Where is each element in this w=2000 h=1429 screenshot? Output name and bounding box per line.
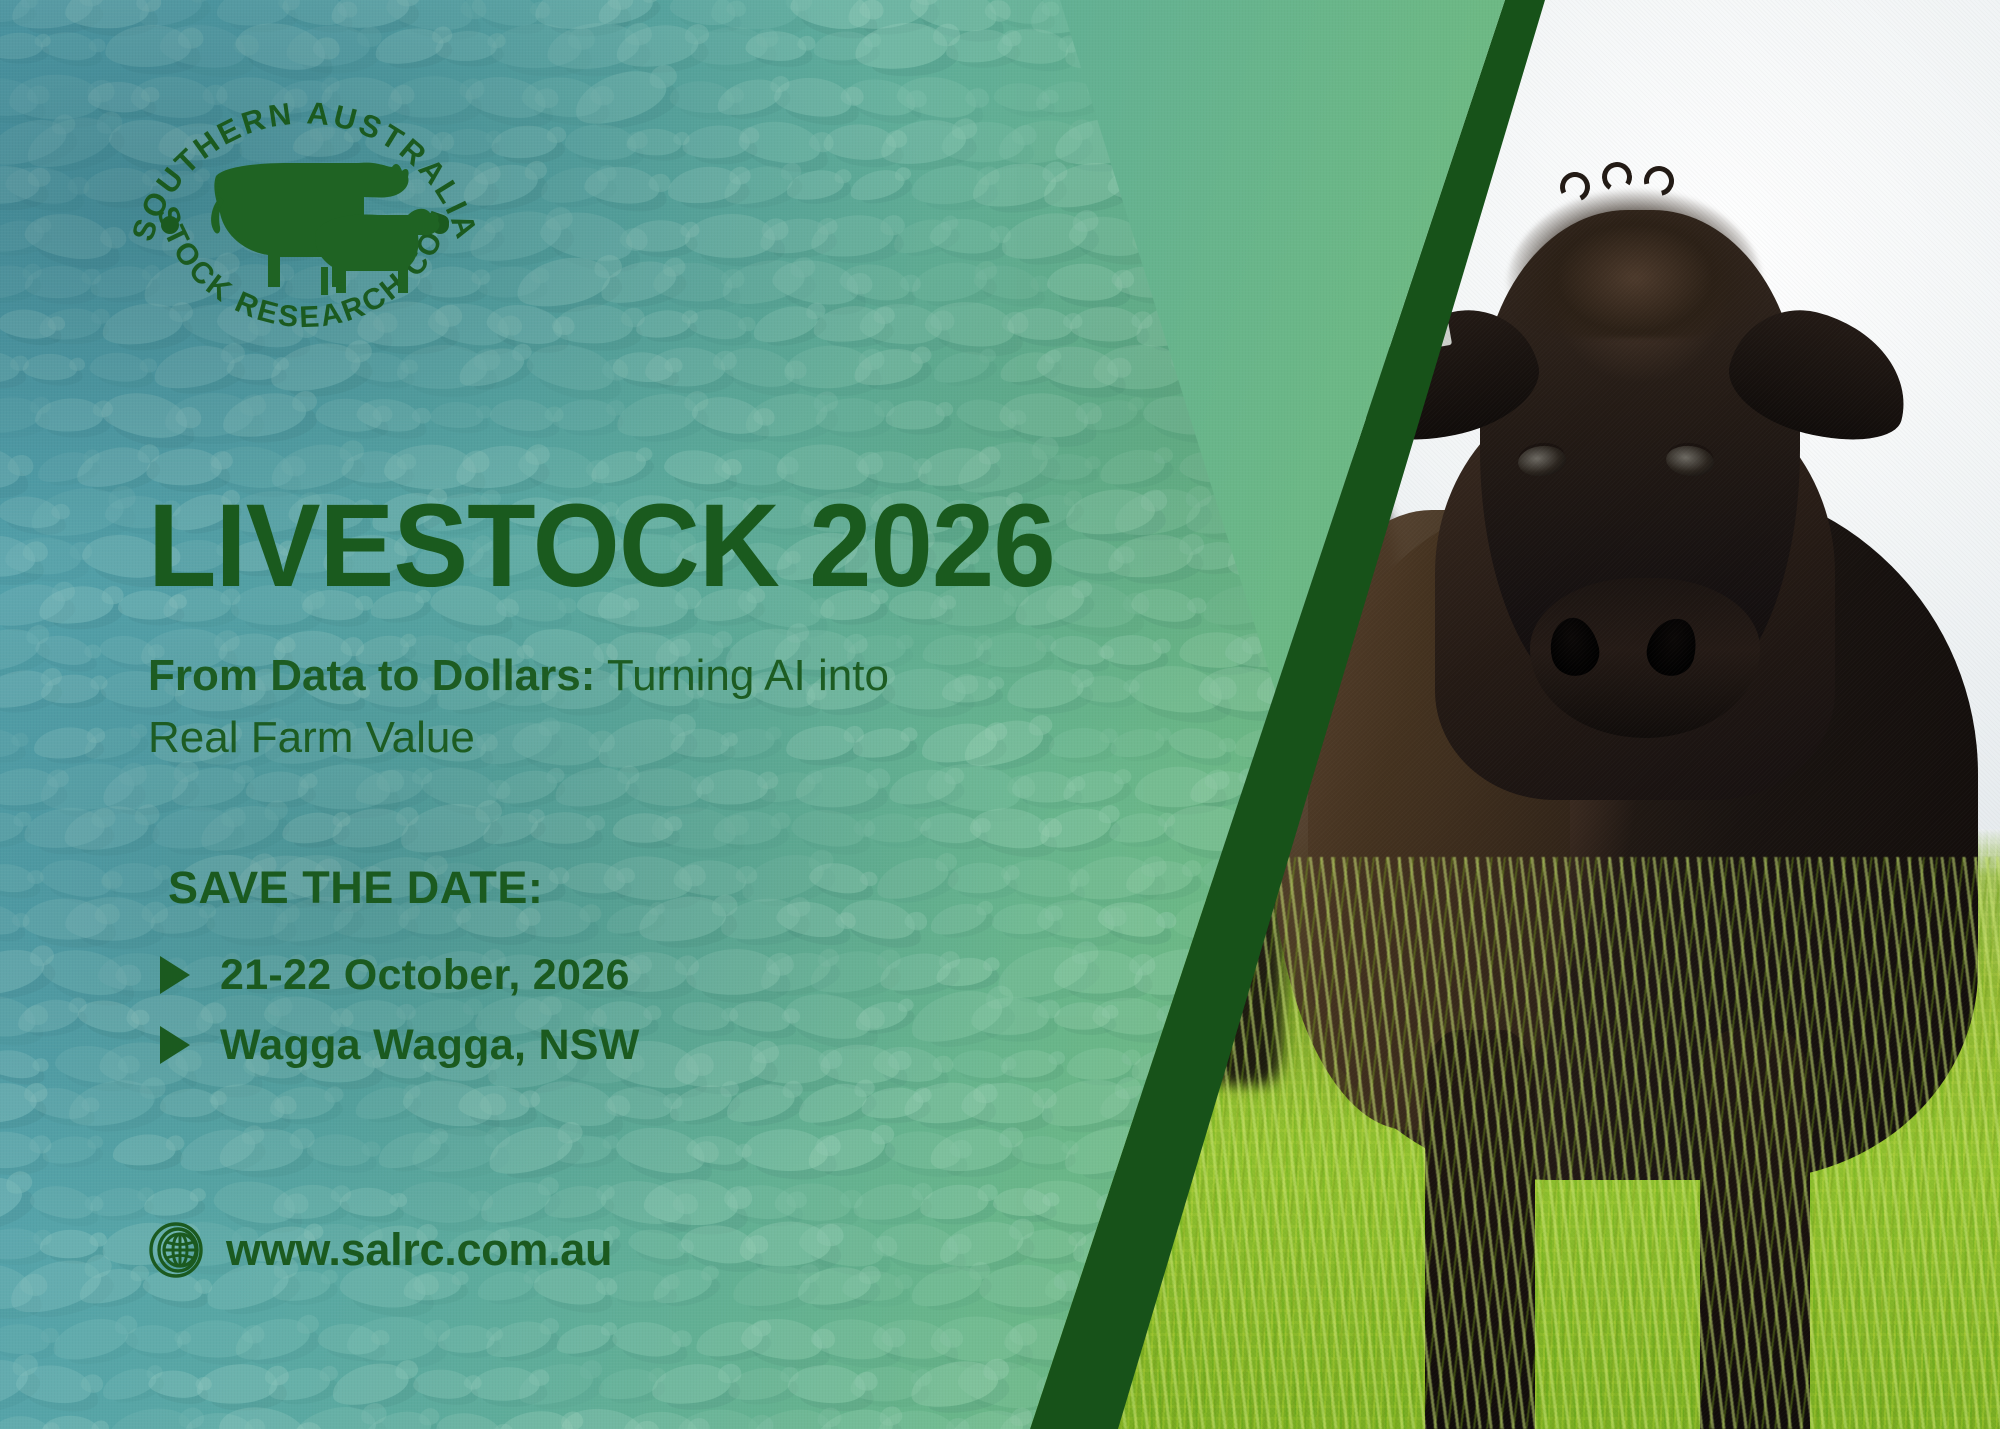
globe-icon [148, 1222, 204, 1278]
page-title: LIVESTOCK 2026 [148, 487, 1055, 605]
poster: SOUTHERN AUSTRALIA LIVESTOCK RESEARCH CO… [0, 0, 2000, 1429]
salrc-logo[interactable]: SOUTHERN AUSTRALIA LIVESTOCK RESEARCH CO… [120, 55, 490, 395]
save-the-date-label: SAVE THE DATE: [168, 862, 543, 914]
triangle-bullet-icon [160, 1026, 220, 1064]
subtitle-bold-lead: From Data to Dollars: [148, 651, 595, 700]
poster-content: SOUTHERN AUSTRALIA LIVESTOCK RESEARCH CO… [0, 0, 1010, 1429]
triangle-bullet-icon [160, 956, 220, 994]
list-item: 21-22 October, 2026 [160, 940, 640, 1010]
event-location: Wagga Wagga, NSW [220, 1021, 640, 1070]
website-url[interactable]: www.salrc.com.au [226, 1224, 612, 1276]
subtitle: From Data to Dollars: Turning AI into Re… [148, 645, 978, 770]
save-the-date-list: 21-22 October, 2026 Wagga Wagga, NSW [160, 940, 640, 1080]
event-date: 21-22 October, 2026 [220, 951, 630, 1000]
website-link[interactable]: www.salrc.com.au [148, 1222, 612, 1278]
list-item: Wagga Wagga, NSW [160, 1010, 640, 1080]
logo-dot-left [161, 216, 179, 234]
